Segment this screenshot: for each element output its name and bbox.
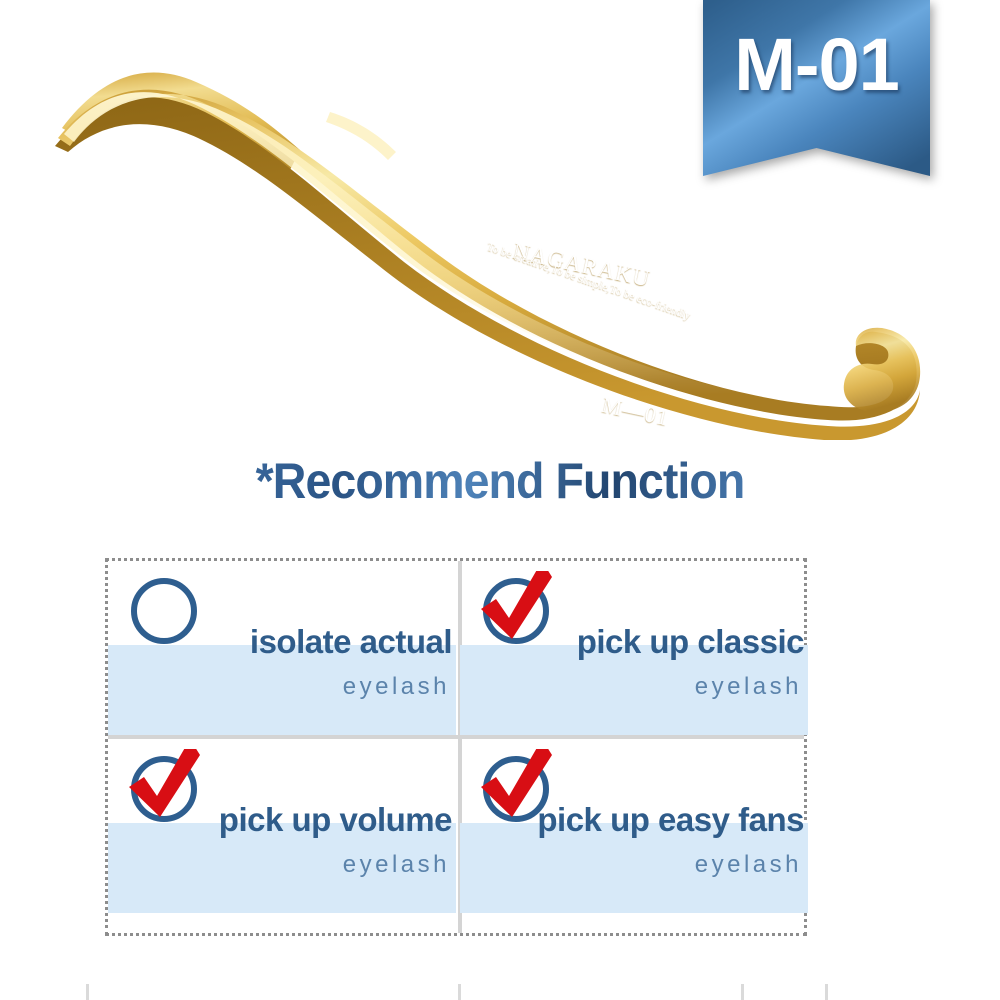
- feature-cell[interactable]: pick up volume eyelash: [108, 739, 456, 913]
- feature-subtitle: eyelash: [343, 851, 450, 879]
- circle-check-icon: [476, 571, 560, 655]
- bottom-tick: [741, 984, 744, 1000]
- page-title: *Recommend Function: [35, 452, 965, 510]
- model-ribbon-badge: [703, 0, 930, 190]
- feature-cell[interactable]: pick up classic eyelash: [460, 561, 808, 735]
- circle-check-icon: [124, 749, 208, 833]
- feature-cell[interactable]: pick up easy fans eyelash: [460, 739, 808, 913]
- feature-title: pick up classic: [577, 623, 804, 661]
- circle-empty-icon: [124, 571, 208, 655]
- feature-title: pick up easy fans: [537, 801, 804, 839]
- feature-subtitle: eyelash: [343, 673, 450, 701]
- feature-subtitle: eyelash: [695, 851, 802, 879]
- feature-subtitle: eyelash: [695, 673, 802, 701]
- feature-title: isolate actual: [250, 623, 452, 661]
- product-detail-page: NAGARAKU ® To be creative,To be simple,T…: [0, 0, 1000, 1000]
- recommend-function-grid: isolate actual eyelash pick up classic e…: [105, 558, 807, 936]
- feature-cell[interactable]: isolate actual eyelash: [108, 561, 456, 735]
- feature-title: pick up volume: [219, 801, 452, 839]
- bottom-tick: [825, 984, 828, 1000]
- bottom-tick: [86, 984, 89, 1000]
- bottom-tick: [458, 984, 461, 1000]
